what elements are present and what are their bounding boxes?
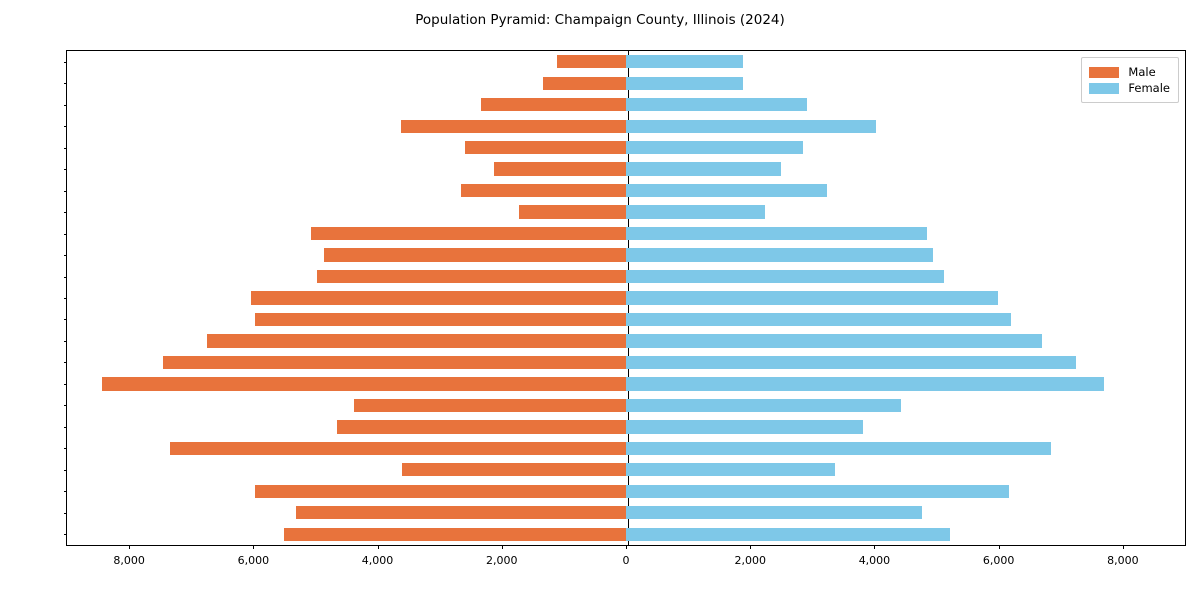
y-tick-mark [64, 427, 68, 428]
x-tick-label: 4,000 [362, 554, 394, 567]
bar-male-45-49 [317, 270, 626, 283]
bar-female-80-84 [626, 77, 743, 90]
x-tick-label: 6,000 [238, 554, 270, 567]
bar-female-62-64 [626, 184, 827, 197]
y-tick-mark [64, 62, 68, 63]
bar-female-5-9 [626, 506, 922, 519]
y-tick-mark [64, 255, 68, 256]
bar-male-5-9 [296, 506, 626, 519]
bar-female-10-14 [626, 485, 1009, 498]
bar-female-15-17 [626, 463, 835, 476]
y-tick-mark [64, 384, 68, 385]
bar-male-70-74 [401, 120, 626, 133]
bar-female-25-29 [626, 356, 1076, 369]
y-tick-mark [64, 362, 68, 363]
bar-female-65-66 [626, 162, 781, 175]
bar-male-40-44 [251, 291, 626, 304]
bar-female-60-61 [626, 205, 765, 218]
y-tick-mark [64, 405, 68, 406]
bar-female-18-19 [626, 442, 1051, 455]
legend-swatch-female [1089, 83, 1119, 94]
x-tick-label: 8,000 [1107, 554, 1139, 567]
legend-swatch-male [1089, 67, 1119, 78]
x-tick-mark [1123, 545, 1124, 549]
bar-female-35-39 [626, 313, 1011, 326]
x-tick-label: 0 [623, 554, 630, 567]
x-tick-label: 8,000 [113, 554, 145, 567]
bar-female-40-44 [626, 291, 998, 304]
y-tick-mark [64, 212, 68, 213]
bar-male-21 [354, 399, 626, 412]
y-tick-mark [64, 319, 68, 320]
y-tick-mark [64, 513, 68, 514]
x-tick-label: 2,000 [486, 554, 518, 567]
bar-female-55-59 [626, 227, 927, 240]
bar-male-10-14 [255, 485, 626, 498]
x-tick-label: 4,000 [859, 554, 891, 567]
bar-male-62-64 [461, 184, 626, 197]
bar-male-67-69 [465, 141, 626, 154]
bar-male-50-54 [324, 248, 626, 261]
y-tick-mark [64, 534, 68, 535]
bar-male-20 [337, 420, 626, 433]
x-tick-mark [253, 545, 254, 549]
y-tick-mark [64, 470, 68, 471]
x-tick-mark [999, 545, 1000, 549]
legend-label: Female [1128, 81, 1170, 95]
bar-female-20 [626, 420, 863, 433]
bar-male-15-17 [402, 463, 626, 476]
bar-female-22-24 [626, 377, 1104, 390]
y-tick-mark [64, 234, 68, 235]
bar-female-70-74 [626, 120, 876, 133]
y-tick-mark [64, 298, 68, 299]
bar-male-25-29 [163, 356, 626, 369]
x-tick-mark [502, 545, 503, 549]
x-tick-mark [378, 545, 379, 549]
bar-male-85- [557, 55, 626, 68]
y-tick-mark [64, 148, 68, 149]
x-tick-mark [750, 545, 751, 549]
bar-male-22-24 [102, 377, 626, 390]
x-tick-label: 2,000 [734, 554, 766, 567]
plot-inner: 85+80-8475-7970-7467-6965-6662-6460-6155… [67, 51, 1185, 545]
bar-female-50-54 [626, 248, 933, 261]
legend-entry-male[interactable]: Male [1089, 65, 1170, 79]
x-tick-mark [626, 545, 627, 549]
y-tick-mark [64, 448, 68, 449]
bar-female-85- [626, 55, 743, 68]
bar-male-55-59 [311, 227, 626, 240]
bar-male-60-61 [519, 205, 626, 218]
bar-male-under-5 [284, 528, 626, 541]
legend-label: Male [1128, 65, 1155, 79]
bar-female-under-5 [626, 528, 950, 541]
y-tick-mark [64, 191, 68, 192]
bar-female-21 [626, 399, 901, 412]
population-pyramid-figure: Population Pyramid: Champaign County, Il… [0, 0, 1200, 600]
bar-female-67-69 [626, 141, 803, 154]
y-tick-mark [64, 105, 68, 106]
y-tick-mark [64, 277, 68, 278]
plot-area: 85+80-8475-7970-7467-6965-6662-6460-6155… [66, 50, 1186, 546]
bar-male-30-34 [207, 334, 626, 347]
y-tick-mark [64, 341, 68, 342]
y-tick-mark [64, 169, 68, 170]
bar-female-75-79 [626, 98, 807, 111]
bar-male-75-79 [481, 98, 626, 111]
bar-male-65-66 [494, 162, 626, 175]
legend-entry-female[interactable]: Female [1089, 81, 1170, 95]
x-tick-mark [874, 545, 875, 549]
chart-legend[interactable]: MaleFemale [1081, 57, 1179, 103]
bar-male-35-39 [255, 313, 626, 326]
y-tick-mark [64, 83, 68, 84]
x-tick-mark [129, 545, 130, 549]
y-tick-mark [64, 491, 68, 492]
x-tick-label: 6,000 [983, 554, 1015, 567]
bar-male-80-84 [543, 77, 626, 90]
y-tick-mark [64, 126, 68, 127]
bar-female-45-49 [626, 270, 944, 283]
bar-male-18-19 [170, 442, 626, 455]
chart-title: Population Pyramid: Champaign County, Il… [0, 12, 1200, 28]
bar-female-30-34 [626, 334, 1042, 347]
